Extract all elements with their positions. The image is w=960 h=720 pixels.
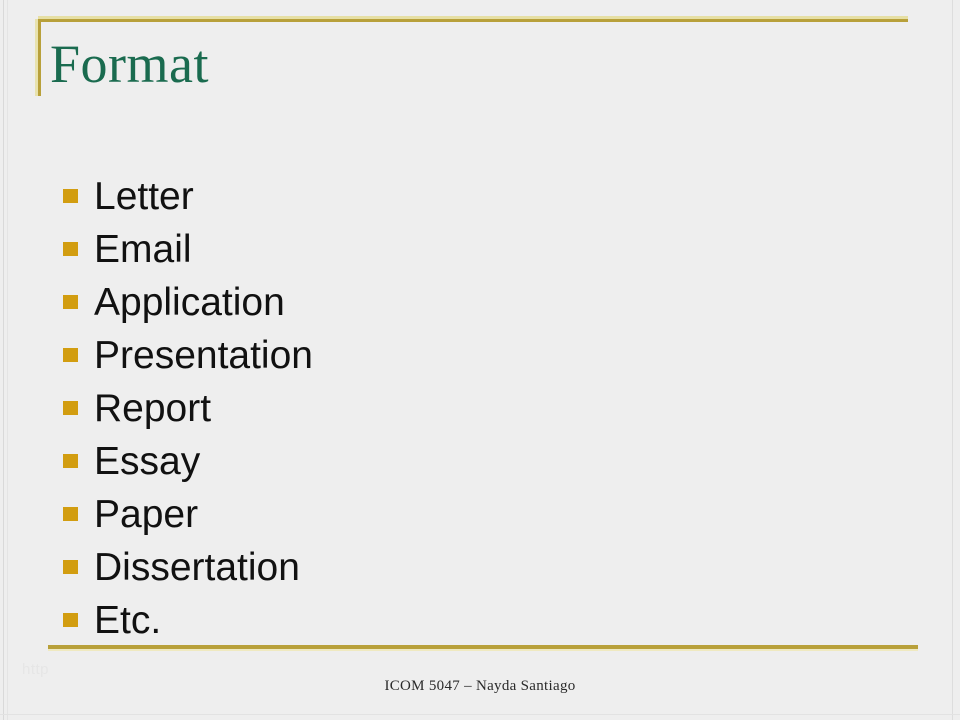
title-rule-top <box>38 19 908 22</box>
title-rule-left <box>38 19 41 96</box>
list-item: Application <box>60 276 860 329</box>
footer-rule-highlight <box>48 649 918 651</box>
list-item: Report <box>60 382 860 435</box>
list-item: Presentation <box>60 329 860 382</box>
square-bullet-icon <box>63 560 78 574</box>
list-item-label: Report <box>94 387 211 431</box>
http-watermark: http <box>22 661 49 678</box>
list-item-label: Letter <box>94 175 194 219</box>
square-bullet-icon <box>63 242 78 256</box>
square-bullet-icon <box>63 401 78 415</box>
square-bullet-icon <box>63 613 78 627</box>
list-item: Dissertation <box>60 541 860 594</box>
list-item: Letter <box>60 170 860 223</box>
slide-frame-right-line <box>952 0 953 720</box>
footer-credit: ICOM 5047 – Nayda Santiago <box>0 678 960 695</box>
list-item-label: Dissertation <box>94 546 300 590</box>
list-item-label: Essay <box>94 440 200 484</box>
square-bullet-icon <box>63 454 78 468</box>
list-item-label: Email <box>94 228 192 272</box>
bullet-list: Letter Email Application Presentation Re… <box>60 170 860 647</box>
list-item: Etc. <box>60 594 860 647</box>
list-item-label: Etc. <box>94 599 161 643</box>
list-item: Essay <box>60 435 860 488</box>
slide-title: Format <box>50 32 209 96</box>
list-item-label: Presentation <box>94 334 313 378</box>
slide-frame-left-line <box>3 0 4 720</box>
slide-frame-bottom-line <box>0 714 960 715</box>
list-item: Paper <box>60 488 860 541</box>
square-bullet-icon <box>63 189 78 203</box>
slide-canvas: Format Letter Email Application Presenta… <box>0 0 960 720</box>
square-bullet-icon <box>63 295 78 309</box>
square-bullet-icon <box>63 507 78 521</box>
list-item-label: Paper <box>94 493 198 537</box>
square-bullet-icon <box>63 348 78 362</box>
slide-frame-left-line-2 <box>7 0 8 720</box>
list-item: Email <box>60 223 860 276</box>
list-item-label: Application <box>94 281 285 325</box>
